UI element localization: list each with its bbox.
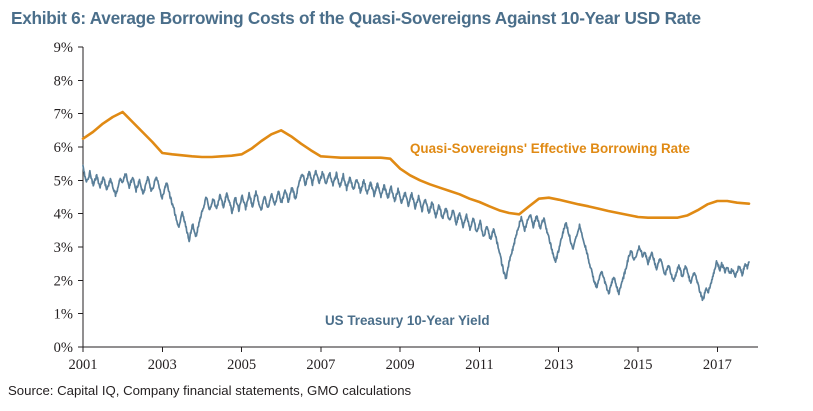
y-tick-label: 6% [54,140,73,156]
y-tick-label: 8% [54,73,73,89]
x-tick-label: 2003 [148,357,177,372]
y-tick-label: 4% [54,207,73,223]
x-axis-tick-labels: 200120032005200720092011201320152017 [69,357,732,372]
annotation-us-treasury-yield: US Treasury 10-Year Yield [325,313,490,328]
x-tick-label: 2007 [306,357,335,372]
page-title: Exhibit 6: Average Borrowing Costs of th… [11,7,806,29]
x-tick-label: 2009 [386,357,415,372]
footer-divider [0,377,813,378]
y-axis-tick-marks [78,47,83,347]
source-note: Source: Capital IQ, Company financial st… [8,383,411,398]
y-axis-tick-labels: 0%1%2%3%4%5%6%7%8%9% [54,40,73,356]
x-axis-tick-marks [83,347,717,352]
y-tick-label: 7% [54,107,73,123]
annotation-quasi-sovereigns-rate: Quasi-Sovereigns' Effective Borrowing Ra… [410,141,690,156]
y-tick-label: 5% [54,173,73,189]
exhibit-figure: Exhibit 6: Average Borrowing Costs of th… [0,0,813,411]
y-tick-label: 1% [54,307,73,323]
x-tick-label: 2011 [465,357,493,372]
line-chart-svg: 0%1%2%3%4%5%6%7%8%9% 2001200320052007200… [0,34,813,372]
x-tick-label: 2017 [703,357,732,372]
x-tick-label: 2015 [624,357,653,372]
y-tick-label: 0% [54,340,73,356]
y-tick-label: 2% [54,273,73,289]
y-tick-label: 3% [54,240,73,256]
series-line-us-treasury-10-year-yield [83,165,749,300]
chart-plot-area: 0%1%2%3%4%5%6%7%8%9% 2001200320052007200… [0,34,813,372]
y-tick-label: 9% [54,40,73,56]
x-tick-label: 2001 [69,357,98,372]
x-tick-label: 2013 [544,357,573,372]
x-tick-label: 2005 [227,357,256,372]
